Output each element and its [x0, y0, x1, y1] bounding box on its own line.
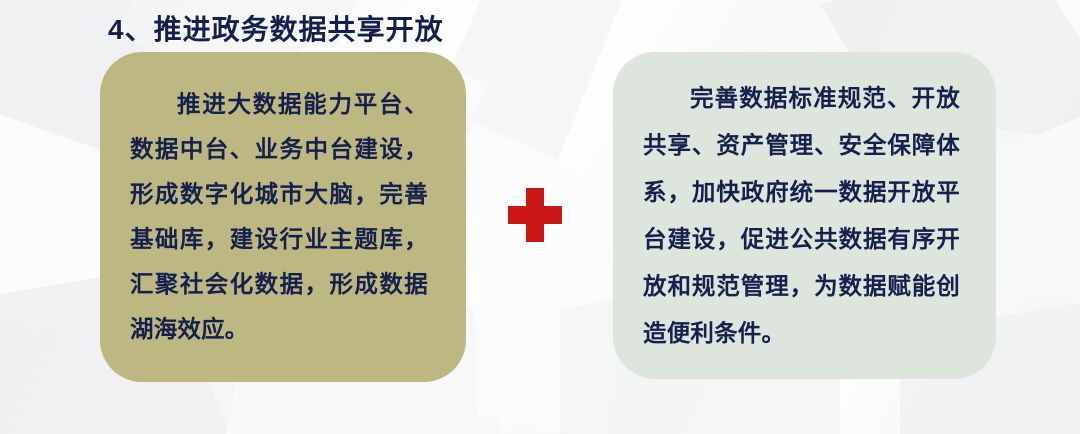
- plus-icon: [508, 188, 562, 242]
- plus-icon-vertical-bar: [526, 188, 544, 242]
- left-content-card: 推进大数据能力平台、数据中台、业务中台建设，形成数字化城市大脑，完善基础库，建设…: [100, 52, 466, 382]
- left-card-text: 推进大数据能力平台、数据中台、业务中台建设，形成数字化城市大脑，完善基础库，建设…: [130, 82, 428, 353]
- slide-title: 4、推进政务数据共享开放: [108, 8, 444, 48]
- slide-canvas: 4、推进政务数据共享开放 推进大数据能力平台、数据中台、业务中台建设，形成数字化…: [0, 0, 1080, 434]
- right-card-text: 完善数据标准规范、开放共享、资产管理、安全保障体系，加快政府统一数据开放平台建设…: [643, 75, 960, 357]
- right-content-card: 完善数据标准规范、开放共享、资产管理、安全保障体系，加快政府统一数据开放平台建设…: [613, 52, 996, 379]
